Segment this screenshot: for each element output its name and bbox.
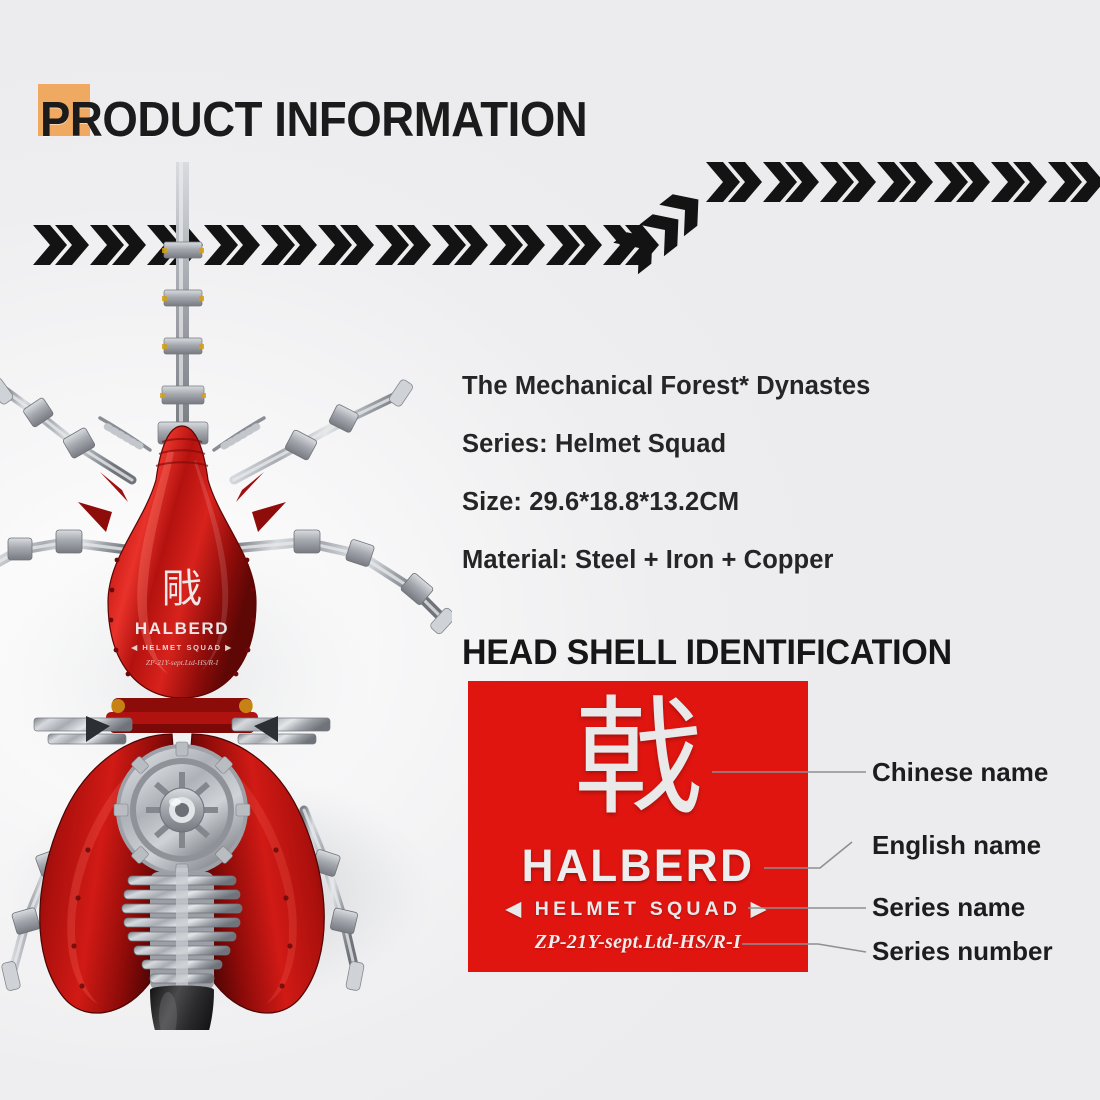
svg-text:戙: 戙 [162,566,202,612]
callout-label-chinese-name: Chinese name [872,757,1048,787]
logo-english-name: HALBERD [471,841,804,891]
logo-series-number: ZP-21Y-sept.Ltd-HS/R-I [468,930,808,954]
spec-material: Material: Steel + Iron + Copper [462,531,1062,589]
logo-chinese-name: 戟 [468,689,808,829]
spec-size: Size: 29.6*18.8*13.2CM [462,473,1062,531]
section-heading: HEAD SHELL IDENTIFICATION [462,633,952,673]
svg-text:ZP-21Y-sept.Ltd-HS/R-I: ZP-21Y-sept.Ltd-HS/R-I [146,658,219,667]
callout-label-series-name: Series name [872,892,1025,922]
callout-label-english-name: English name [872,830,1041,860]
spec-list: The Mechanical Forest* Dynastes Series: … [462,357,1062,589]
page-title: PRODUCT INFORMATION [40,94,587,146]
callout-label-series-number: Series number [872,936,1053,966]
product-information-page: PRODUCT INFORMATION [0,0,1100,1100]
svg-text:HALBERD: HALBERD [135,619,229,638]
head-shell-logo-panel: 戟 HALBERD ◀ HELMET SQUAD ▶ ZP-21Y-sept.L… [468,681,808,972]
product-photo: 戙 HALBERD ◀ HELMET SQUAD ▶ ZP-21Y-sept.L… [0,150,452,1030]
svg-text:◀ HELMET SQUAD ▶: ◀ HELMET SQUAD ▶ [130,643,232,652]
logo-series-name: ◀ HELMET SQUAD ▶ [468,897,808,921]
spec-series: Series: Helmet Squad [462,415,1062,473]
spec-product-name: The Mechanical Forest* Dynastes [462,357,1062,415]
